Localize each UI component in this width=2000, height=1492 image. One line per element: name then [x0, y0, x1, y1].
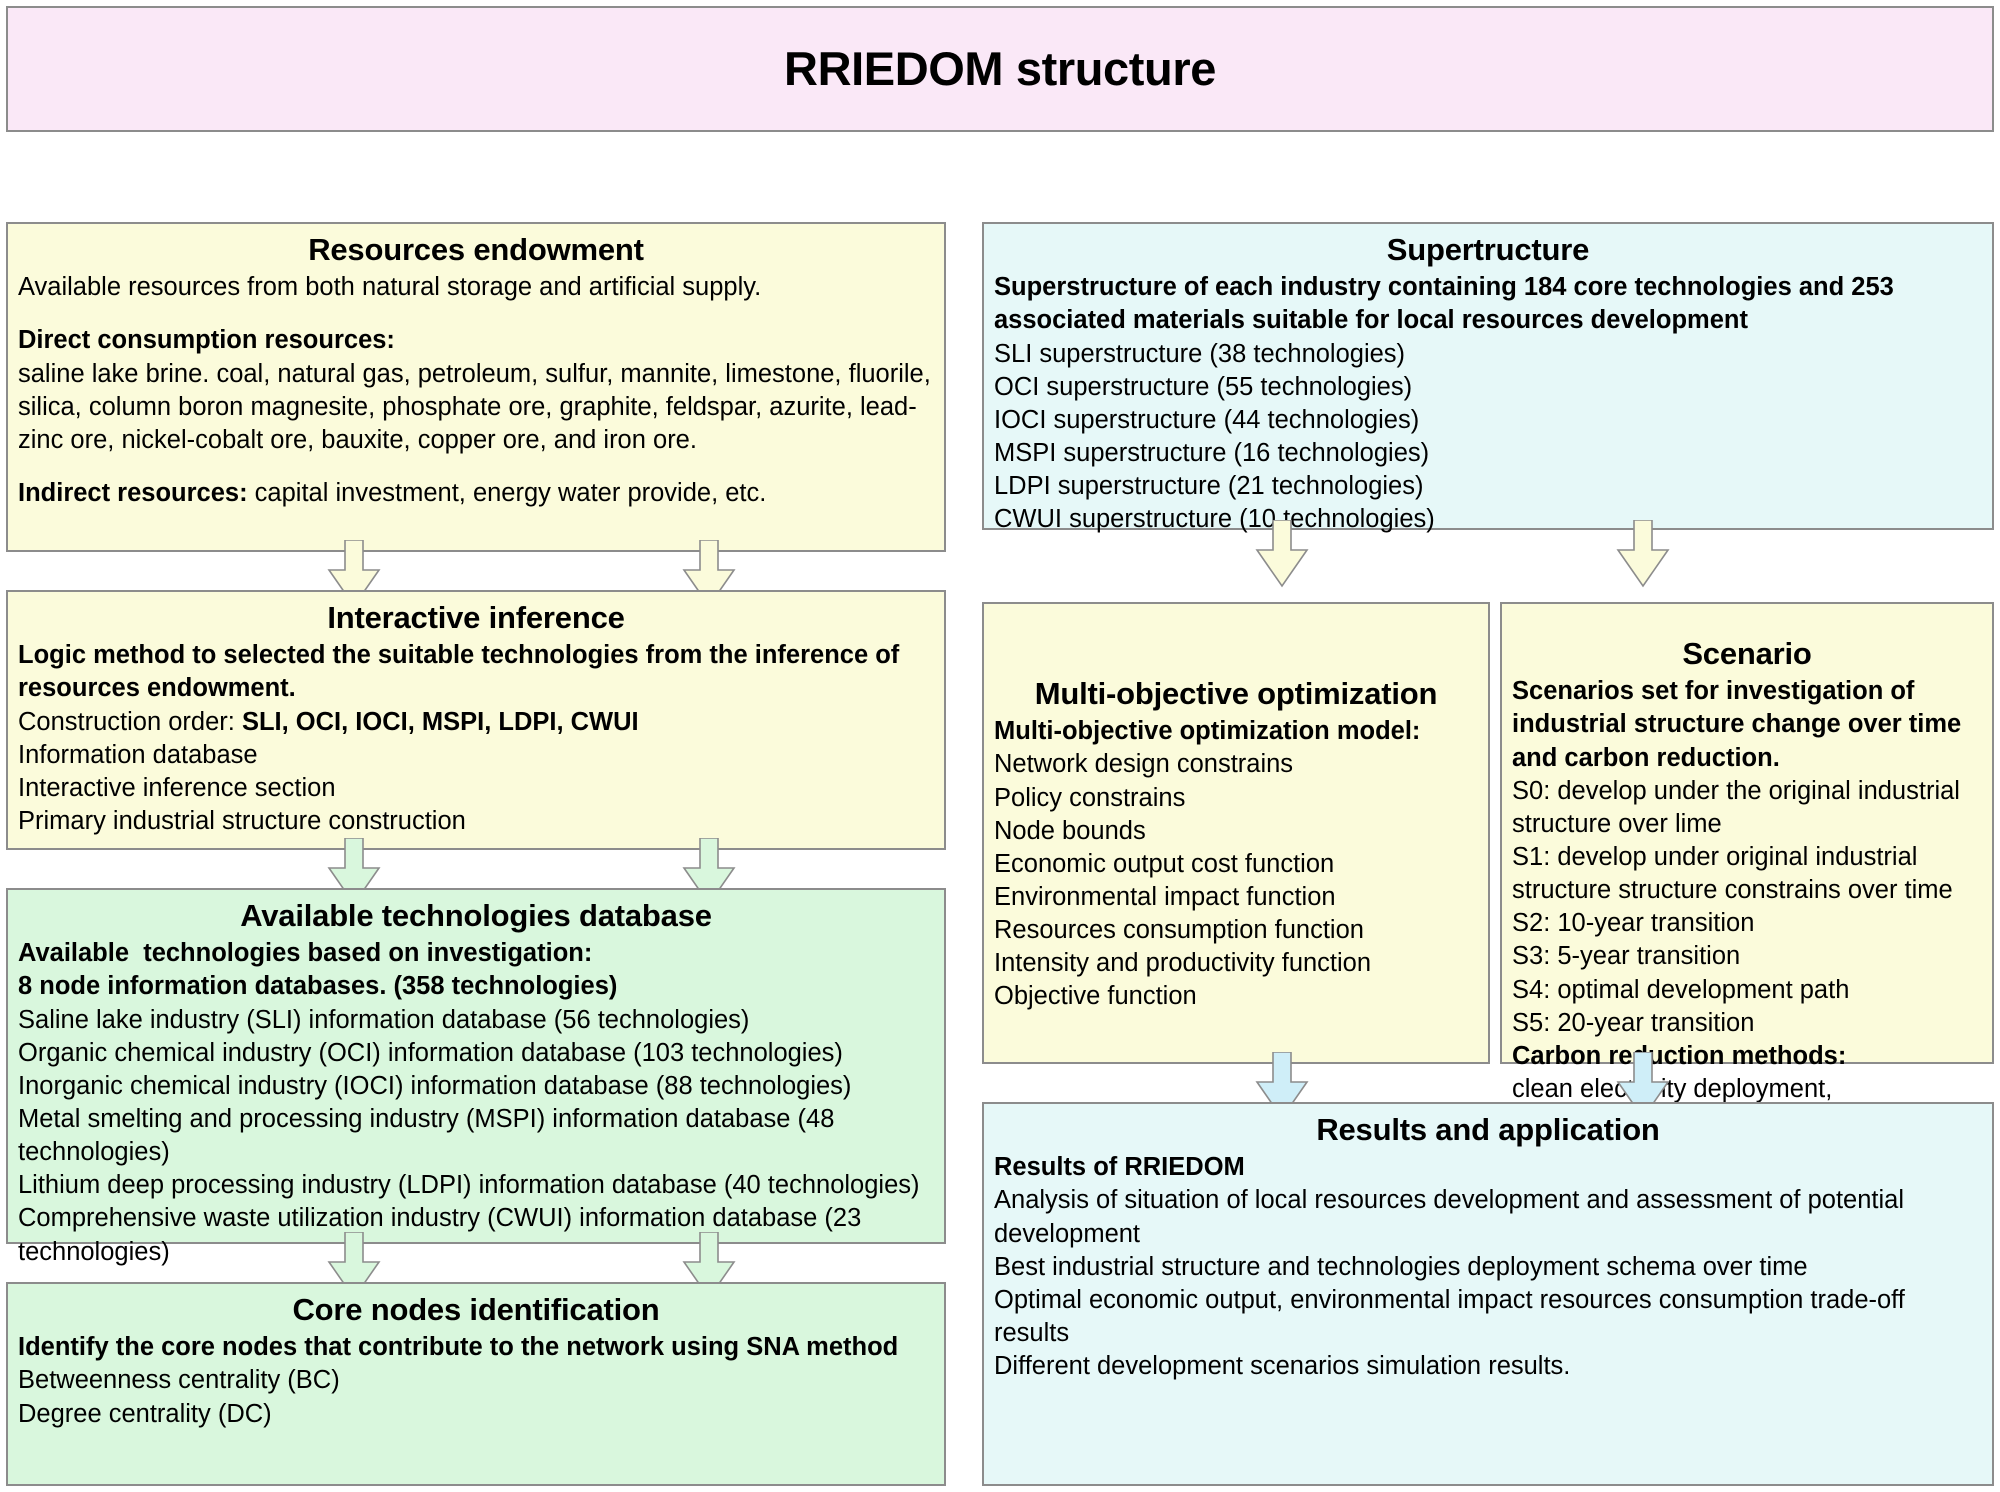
interactive-inference-item-3: Primary industrial structure constructio… — [18, 805, 934, 838]
resources-endowment-indirect-label: Indirect resources: — [18, 479, 248, 507]
scenario-item-2: S2: 10-year transition — [1512, 907, 1982, 940]
results-title: Results and application — [994, 1110, 1982, 1150]
diagram-canvas: RRIEDOM structure Resources endowment Av… — [0, 0, 2000, 1492]
resources-endowment-direct-list: saline lake brine. coal, natural gas, pe… — [18, 358, 934, 457]
resources-endowment-indirect-value: capital investment, energy water provide… — [248, 479, 767, 507]
box-available-technologies-database: Available technologies database Availabl… — [6, 888, 946, 1244]
available-technologies-item-1: Organic chemical industry (OCI) informat… — [18, 1037, 934, 1070]
resources-endowment-title: Resources endowment — [18, 230, 934, 270]
box-multi-objective-optimization: Multi-objective optimization Multi-objec… — [982, 602, 1490, 1064]
interactive-inference-intro: Logic method to selected the suitable te… — [18, 639, 934, 705]
multi-objective-item-7: Objective function — [994, 980, 1478, 1013]
arrow-supertructure-to-multiobjective — [1253, 520, 1311, 588]
results-item-1: Best industrial structure and technologi… — [994, 1251, 1982, 1284]
results-item-3: Different development scenarios simulati… — [994, 1350, 1982, 1383]
interactive-inference-item-1: Information database — [18, 739, 934, 772]
spacer — [18, 304, 934, 324]
interactive-inference-title: Interactive inference — [18, 598, 934, 638]
spacer — [18, 457, 934, 477]
interactive-inference-item-2: Interactive inference section — [18, 772, 934, 805]
scenario-carbon-label: Carbon reduction methods: — [1512, 1040, 1982, 1073]
multi-objective-item-4: Environmental impact function — [994, 881, 1478, 914]
results-item-2: Optimal economic output, environmental i… — [994, 1284, 1982, 1350]
available-technologies-bold-2: 8 node information databases. (358 techn… — [18, 970, 934, 1003]
multi-objective-item-1: Policy constrains — [994, 782, 1478, 815]
supertructure-title: Supertructure — [994, 230, 1982, 270]
available-technologies-item-5: Comprehensive waste utilization industry… — [18, 1202, 934, 1268]
box-supertructure: Supertructure Superstructure of each ind… — [982, 222, 1994, 530]
supertructure-bold: Superstructure of each industry containi… — [994, 271, 1982, 337]
page-title: RRIEDOM structure — [784, 38, 1216, 99]
core-nodes-item-1: Degree centrality (DC) — [18, 1398, 934, 1431]
multi-objective-item-6: Intensity and productivity function — [994, 947, 1478, 980]
construction-order-label: Construction order: — [18, 708, 242, 736]
available-technologies-bold-1: Available technologies based on investig… — [18, 937, 934, 970]
box-interactive-inference: Interactive inference Logic method to se… — [6, 590, 946, 850]
construction-order-value: SLI, OCI, IOCI, MSPI, LDPI, CWUI — [242, 708, 639, 736]
multi-objective-item-5: Resources consumption function — [994, 914, 1478, 947]
scenario-title: Scenario — [1512, 634, 1982, 674]
multi-objective-item-3: Economic output cost function — [994, 848, 1478, 881]
diagram-header: RRIEDOM structure — [6, 6, 1994, 132]
core-nodes-title: Core nodes identification — [18, 1290, 934, 1330]
box-core-nodes-identification: Core nodes identification Identify the c… — [6, 1282, 946, 1486]
resources-endowment-direct-label: Direct consumption resources: — [18, 324, 934, 357]
multi-objective-item-0: Network design constrains — [994, 748, 1478, 781]
supertructure-item-1: OCI superstructure (55 technologies) — [994, 371, 1982, 404]
resources-endowment-intro: Available resources from both natural st… — [18, 271, 934, 304]
supertructure-item-0: SLI superstructure (38 technologies) — [994, 338, 1982, 371]
box-resources-endowment: Resources endowment Available resources … — [6, 222, 946, 552]
core-nodes-bold: Identify the core nodes that contribute … — [18, 1331, 934, 1364]
interactive-inference-construction-order: Construction order: SLI, OCI, IOCI, MSPI… — [18, 706, 934, 739]
core-nodes-item-0: Betweenness centrality (BC) — [18, 1364, 934, 1397]
supertructure-item-2: IOCI superstructure (44 technologies) — [994, 404, 1982, 437]
available-technologies-item-0: Saline lake industry (SLI) information d… — [18, 1004, 934, 1037]
scenario-item-0: S0: develop under the original industria… — [1512, 775, 1982, 841]
available-technologies-item-4: Lithium deep processing industry (LDPI) … — [18, 1169, 934, 1202]
available-technologies-item-3: Metal smelting and processing industry (… — [18, 1103, 934, 1169]
available-technologies-item-2: Inorganic chemical industry (IOCI) infor… — [18, 1070, 934, 1103]
scenario-item-1: S1: develop under original industrial st… — [1512, 841, 1982, 907]
arrow-supertructure-to-scenario — [1614, 520, 1672, 588]
scenario-item-5: S5: 20-year transition — [1512, 1007, 1982, 1040]
multi-objective-item-2: Node bounds — [994, 815, 1478, 848]
supertructure-item-4: LDPI superstructure (21 technologies) — [994, 470, 1982, 503]
supertructure-item-3: MSPI superstructure (16 technologies) — [994, 437, 1982, 470]
box-scenario: Scenario Scenarios set for investigation… — [1500, 602, 1994, 1064]
results-item-0: Analysis of situation of local resources… — [994, 1184, 1982, 1250]
multi-objective-title: Multi-objective optimization — [994, 674, 1478, 714]
box-results-and-application: Results and application Results of RRIED… — [982, 1102, 1994, 1486]
scenario-item-3: S3: 5-year transition — [1512, 940, 1982, 973]
scenario-item-4: S4: optimal development path — [1512, 974, 1982, 1007]
available-technologies-title: Available technologies database — [18, 896, 934, 936]
multi-objective-bold: Multi-objective optimization model: — [994, 715, 1478, 748]
resources-endowment-indirect: Indirect resources: capital investment, … — [18, 477, 934, 510]
results-bold: Results of RRIEDOM — [994, 1151, 1982, 1184]
scenario-intro: Scenarios set for investigation of indus… — [1512, 675, 1982, 774]
supertructure-item-5: CWUI superstructure (10 technologies) — [994, 503, 1982, 536]
